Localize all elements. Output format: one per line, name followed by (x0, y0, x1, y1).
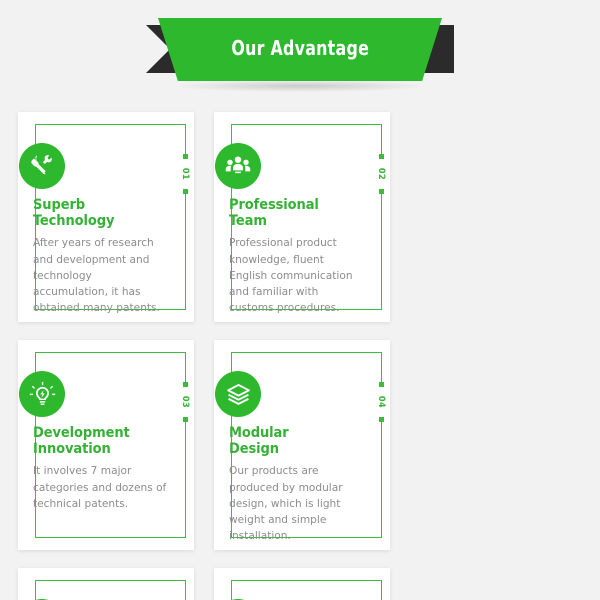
advantage-card[interactable]: Professional Team Professional product k… (214, 112, 390, 322)
team-people-icon (215, 143, 261, 189)
card-description: Professional product knowledge, fluent E… (229, 235, 363, 315)
advantage-card[interactable]: Modular Design Our products are produced… (214, 340, 390, 550)
advantage-card[interactable]: Superb Technology After years of researc… (18, 112, 194, 322)
card-inner-frame: Modular Design Our products are produced… (231, 352, 382, 538)
card-number-label: 03 (180, 396, 190, 408)
advantage-card[interactable]: Development Innovation It involves 7 maj… (18, 340, 194, 550)
lightbulb-innovation-icon (19, 371, 65, 417)
advantage-card[interactable]: 100% Recyclable Through continuous techn… (214, 568, 390, 600)
card-title: Modular Design (229, 425, 363, 457)
ribbon-body: Our Advantage (158, 18, 442, 81)
layers-stack-icon (215, 371, 261, 417)
advantage-card-grid: Superb Technology After years of researc… (18, 112, 582, 600)
card-number-badge: 01 (176, 157, 194, 191)
card-title: Professional Team (229, 197, 363, 229)
ribbon-shadow (175, 80, 425, 92)
section-title: Our Advantage (231, 36, 369, 60)
card-body: Professional Team Professional product k… (229, 197, 363, 316)
card-number-badge: 04 (372, 385, 390, 419)
card-title: Superb Technology (33, 197, 167, 229)
wrench-screwdriver-icon (19, 143, 65, 189)
card-inner-frame: Development Innovation It involves 7 maj… (35, 352, 186, 538)
advantage-card[interactable]: Healthy and Non-Toxic Raw materials used… (18, 568, 194, 600)
card-number-label: 04 (376, 396, 386, 408)
card-description: Our products are produced by modular des… (229, 463, 363, 543)
card-number-badge: 02 (372, 157, 390, 191)
card-number-badge: 03 (176, 385, 194, 419)
card-inner-frame: Superb Technology After years of researc… (35, 124, 186, 310)
card-inner-frame: 100% Recyclable Through continuous techn… (231, 580, 382, 600)
card-title: Development Innovation (33, 425, 167, 457)
card-number-label: 01 (180, 168, 190, 180)
section-banner: Our Advantage (0, 18, 600, 84)
card-body: Development Innovation It involves 7 maj… (33, 425, 167, 512)
card-body: Superb Technology After years of researc… (33, 197, 167, 316)
card-body: Modular Design Our products are produced… (229, 425, 363, 544)
card-number-label: 02 (376, 168, 386, 180)
card-description: It involves 7 major categories and dozen… (33, 463, 167, 511)
card-description: After years of research and development … (33, 235, 167, 315)
card-inner-frame: Healthy and Non-Toxic Raw materials used… (35, 580, 186, 600)
card-inner-frame: Professional Team Professional product k… (231, 124, 382, 310)
